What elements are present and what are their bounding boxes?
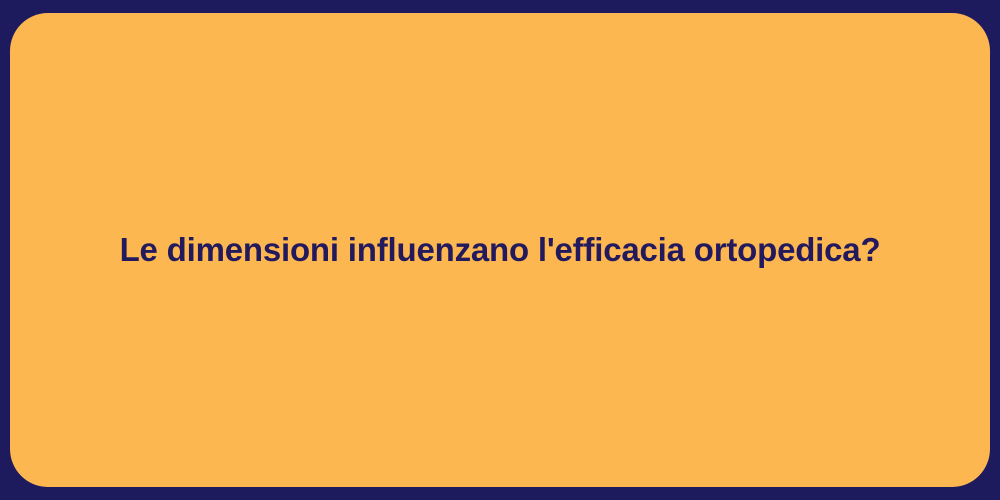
banner-canvas: Le dimensioni influenzano l'efficacia or… [0, 0, 1000, 500]
banner-headline: Le dimensioni influenzano l'efficacia or… [10, 229, 990, 270]
banner-card: Le dimensioni influenzano l'efficacia or… [10, 13, 990, 487]
